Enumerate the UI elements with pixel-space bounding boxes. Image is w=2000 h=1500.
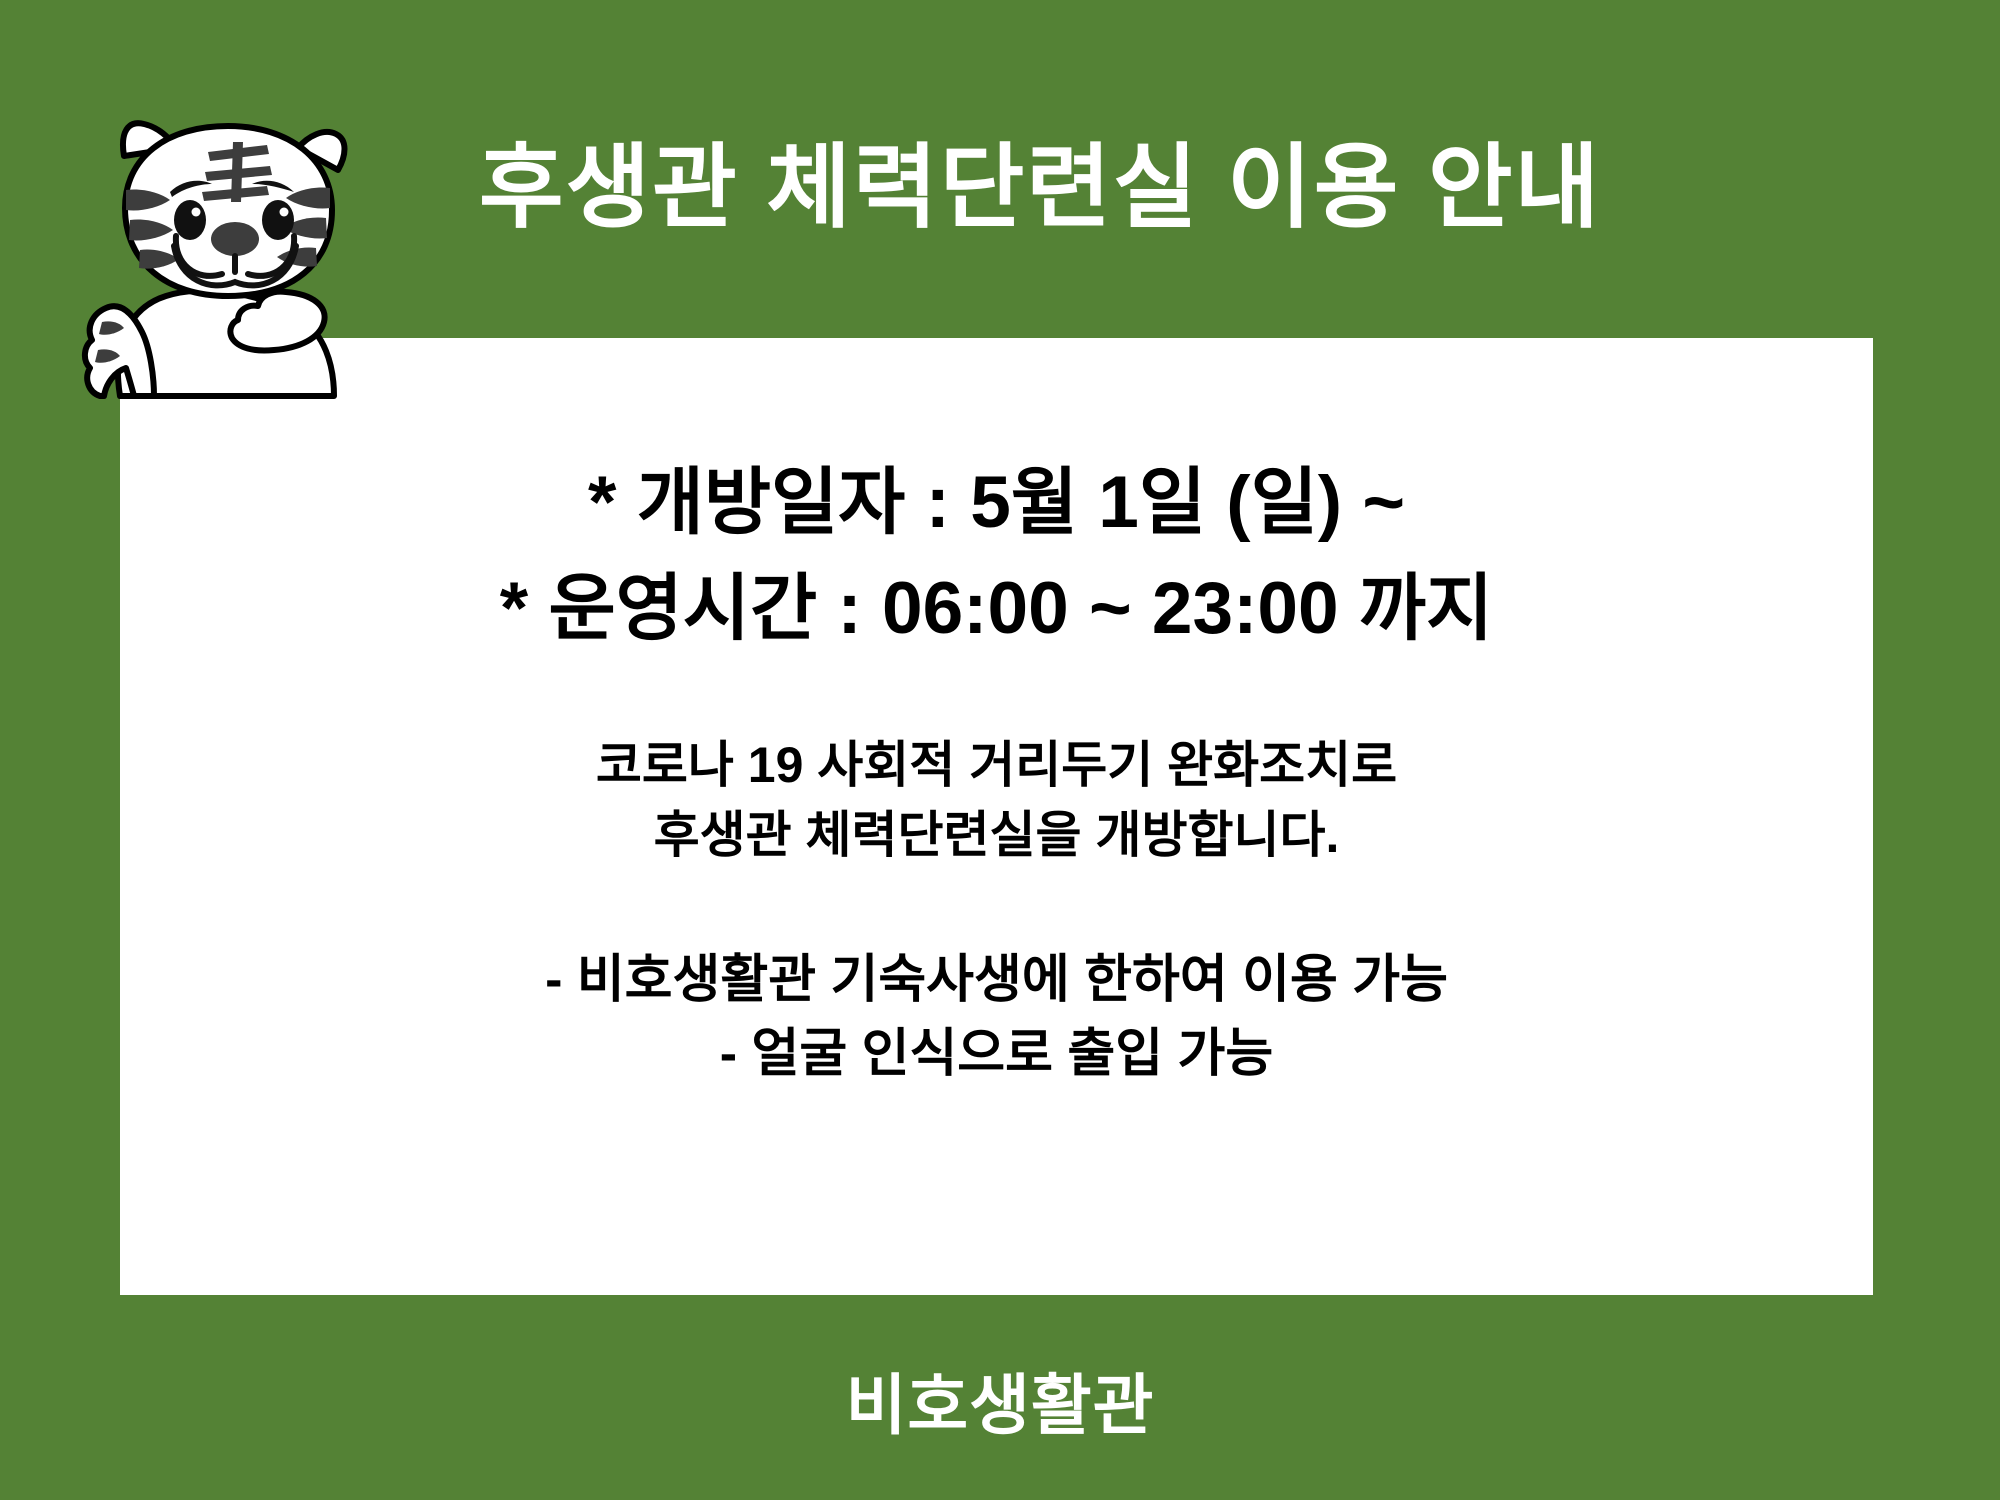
notes-section: - 비호생활관 기숙사생에 한하여 이용 가능 - 얼굴 인식으로 출입 가능 (120, 944, 1873, 1092)
paragraph-line-2: 후생관 체력단련실을 개방합니다. (120, 800, 1873, 870)
note-eligibility: - 비호생활관 기숙사생에 한하여 이용 가능 (120, 944, 1873, 1018)
note-face-recognition: - 얼굴 인식으로 출입 가능 (120, 1018, 1873, 1092)
paragraph-line-1: 코로나 19 사회적 거리두기 완화조치로 (120, 730, 1873, 800)
notice-card: * 개방일자 : 5월 1일 (일) ~ * 운영시간 : 06:00 ~ 23… (120, 338, 1873, 1295)
bullet-section: * 개방일자 : 5월 1일 (일) ~ * 운영시간 : 06:00 ~ 23… (120, 450, 1873, 662)
poster-root: 후생관 체력단련실 이용 안내 (0, 0, 2000, 1500)
page-title: 후생관 체력단련실 이용 안내 (0, 140, 2000, 237)
bullet-operating-hours: * 운영시간 : 06:00 ~ 23:00 까지 (120, 556, 1873, 662)
mouth-icon (174, 236, 296, 285)
footer-organization: 비호생활관 (0, 1352, 2000, 1448)
paragraph-section: 코로나 19 사회적 거리두기 완화조치로 후생관 체력단련실을 개방합니다. (120, 730, 1873, 870)
bullet-open-date: * 개방일자 : 5월 1일 (일) ~ (120, 450, 1873, 556)
